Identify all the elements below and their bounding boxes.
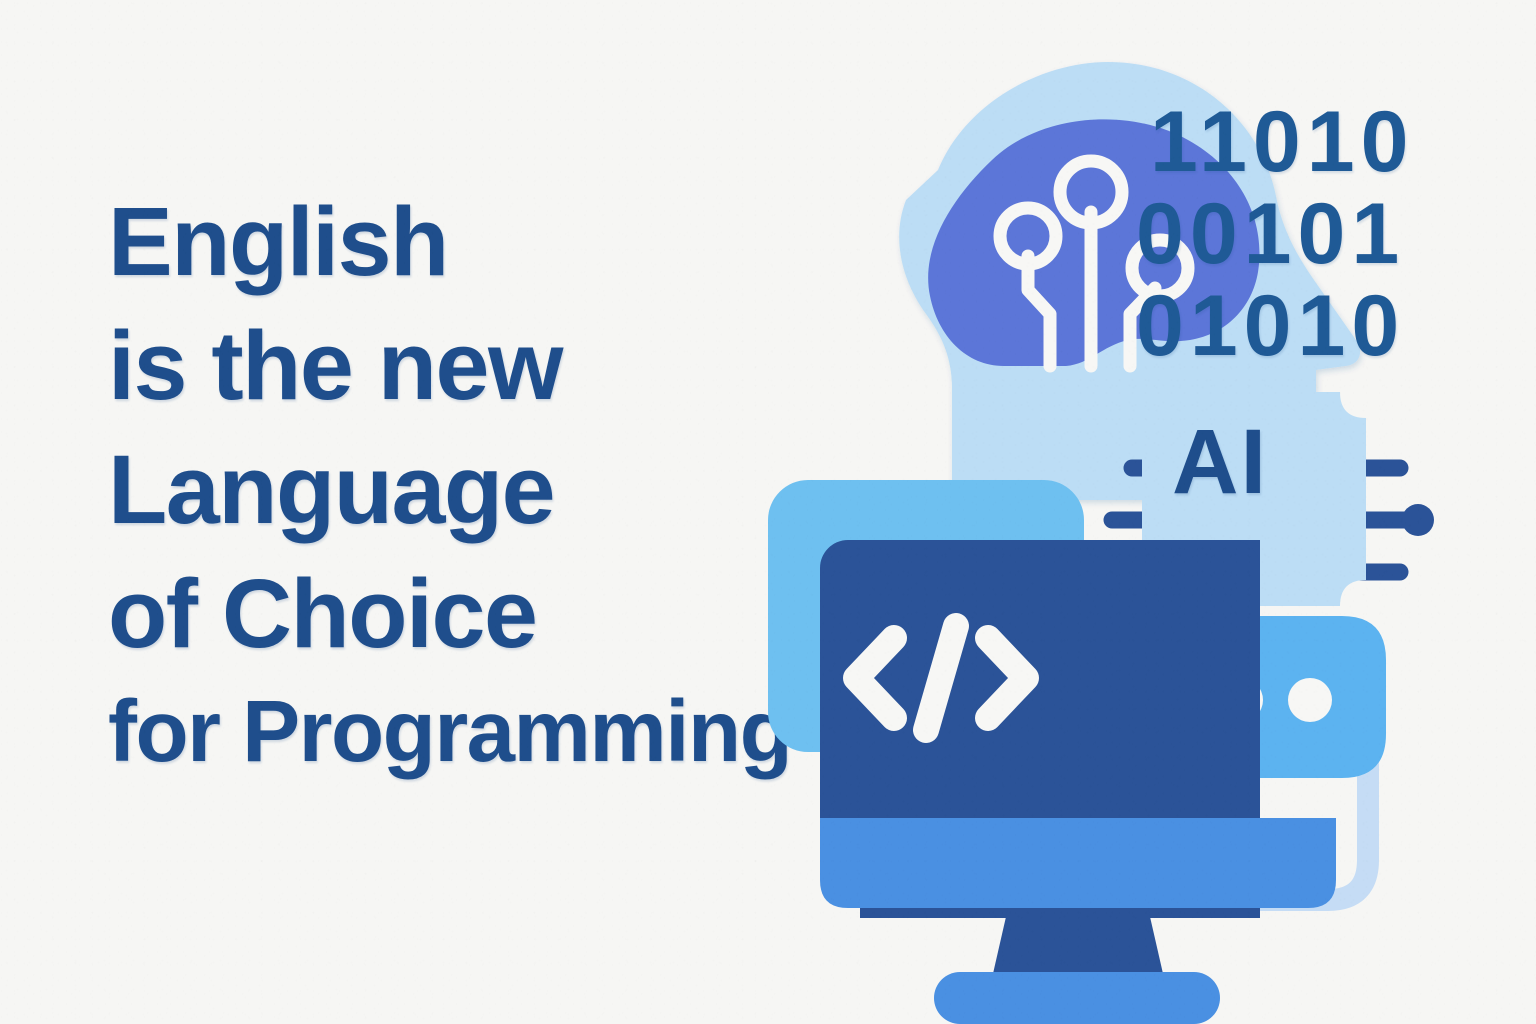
headline-line-3: Language [108, 428, 791, 552]
headline-line-1: English [108, 180, 791, 304]
binary-row-1: 11010 [1136, 96, 1414, 188]
code-monitor-icon [820, 540, 1336, 1024]
ai-chip-pin-terminal [1402, 504, 1434, 536]
headline-line-5: for Programming [108, 676, 791, 788]
headline-line-4: of Choice [108, 552, 791, 676]
binary-row-2: 00101 [1136, 188, 1414, 280]
page-title: English is the new Language of Choice fo… [108, 180, 791, 788]
headline-line-2: is the new [108, 304, 791, 428]
poster-canvas: English is the new Language of Choice fo… [0, 0, 1536, 1024]
binary-digits: 11010 00101 01010 [1136, 96, 1414, 372]
ai-chip-label: AI [1172, 416, 1268, 508]
binary-row-3: 01010 [1136, 280, 1414, 372]
